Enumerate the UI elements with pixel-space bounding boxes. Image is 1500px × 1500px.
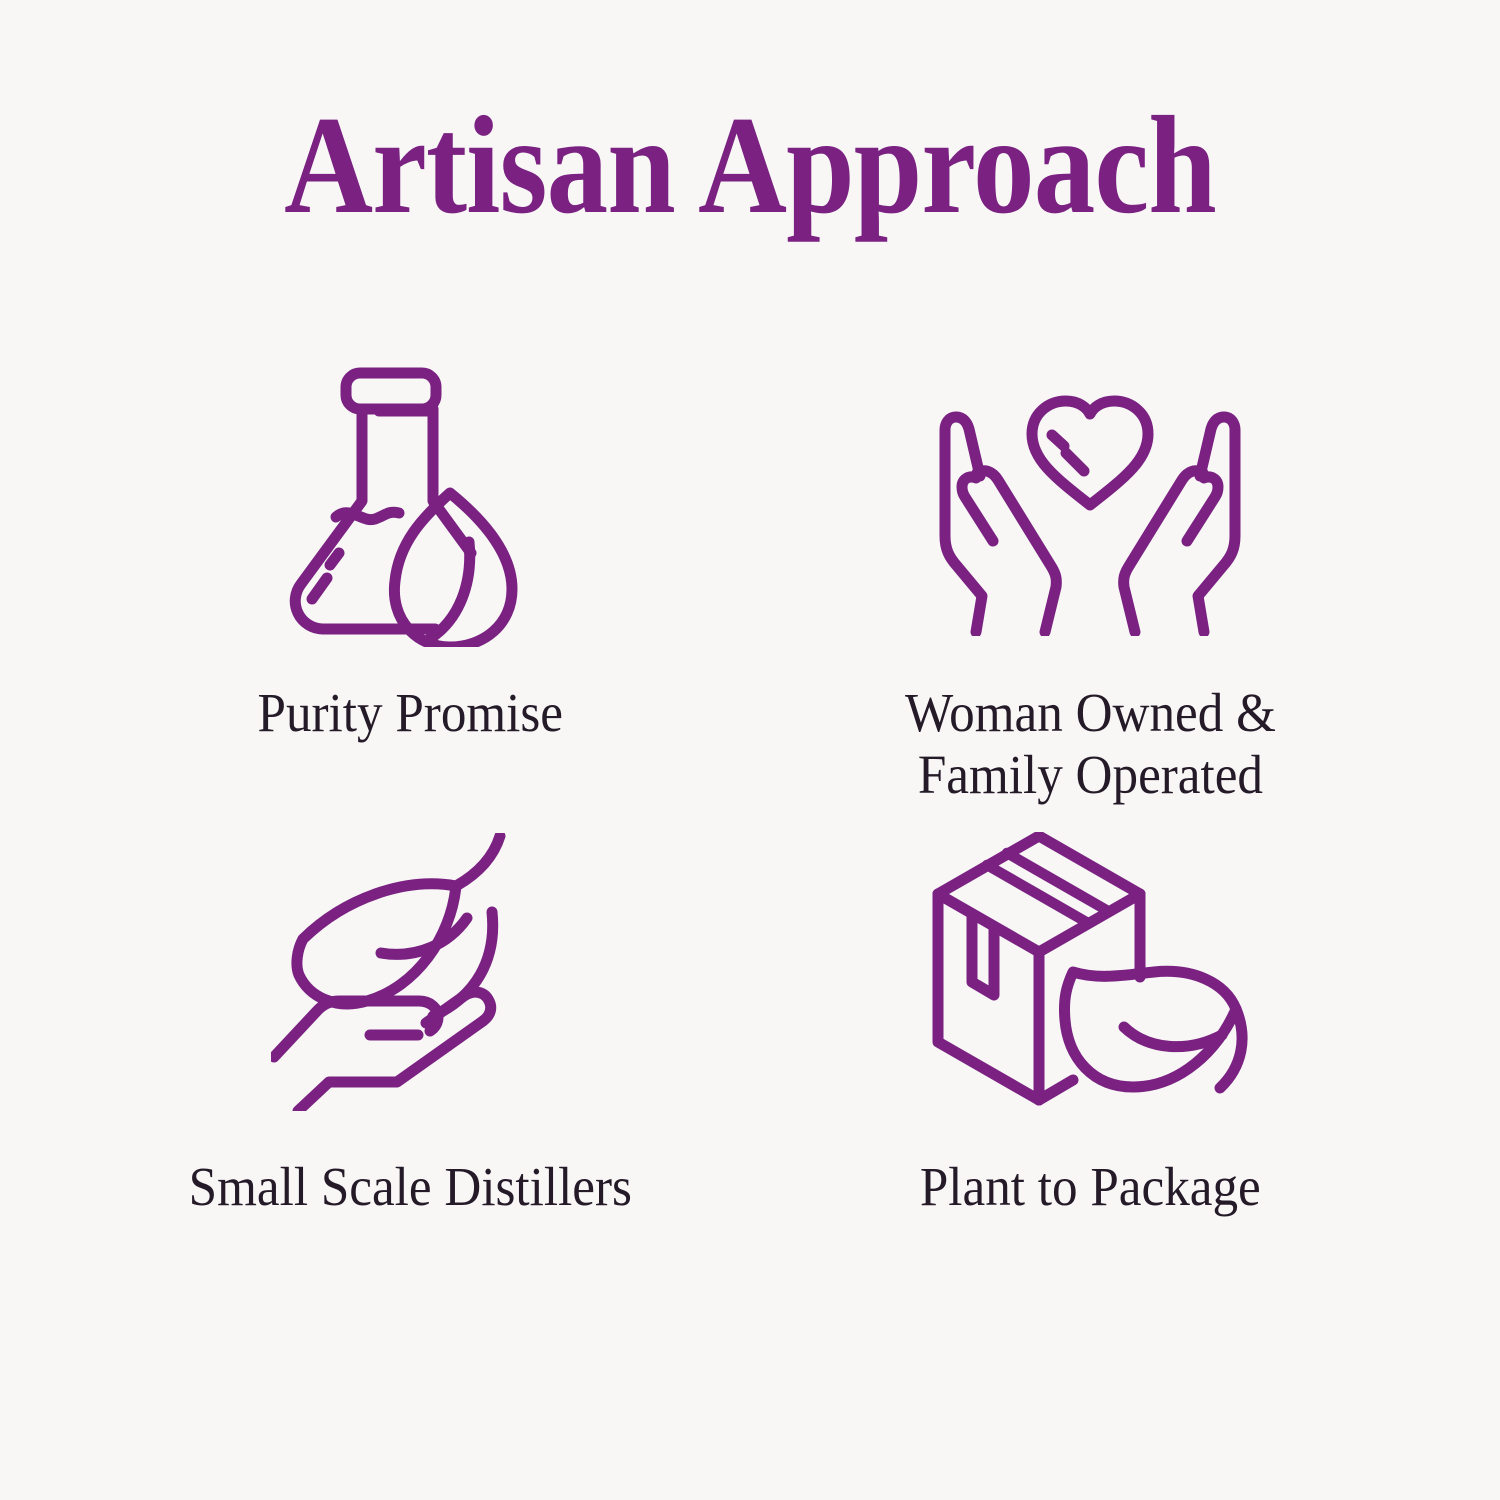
feature-purity-promise[interactable]: Purity Promise xyxy=(70,352,750,822)
feature-label: Purity Promise xyxy=(257,682,563,744)
feature-label: Small Scale Distillers xyxy=(188,1156,631,1218)
features-grid: Purity Promise xyxy=(70,352,1430,1292)
page-title-container: Artisan Approach xyxy=(0,96,1500,236)
package-box-leaf-icon xyxy=(925,822,1255,1122)
artisan-approach-panel: Artisan Approach xyxy=(0,0,1500,1500)
feature-woman-owned-family-operated[interactable]: Woman Owned & Family Operated xyxy=(750,352,1430,822)
hands-holding-heart-icon xyxy=(925,352,1255,652)
feature-plant-to-package[interactable]: Plant to Package xyxy=(750,822,1430,1292)
flask-leaf-icon xyxy=(276,352,544,652)
leaf-in-open-hand-icon xyxy=(271,822,549,1122)
page-title: Artisan Approach xyxy=(90,96,1410,236)
feature-label: Woman Owned & Family Operated xyxy=(905,682,1276,805)
feature-label: Plant to Package xyxy=(920,1156,1261,1218)
feature-small-scale-distillers[interactable]: Small Scale Distillers xyxy=(70,822,750,1292)
